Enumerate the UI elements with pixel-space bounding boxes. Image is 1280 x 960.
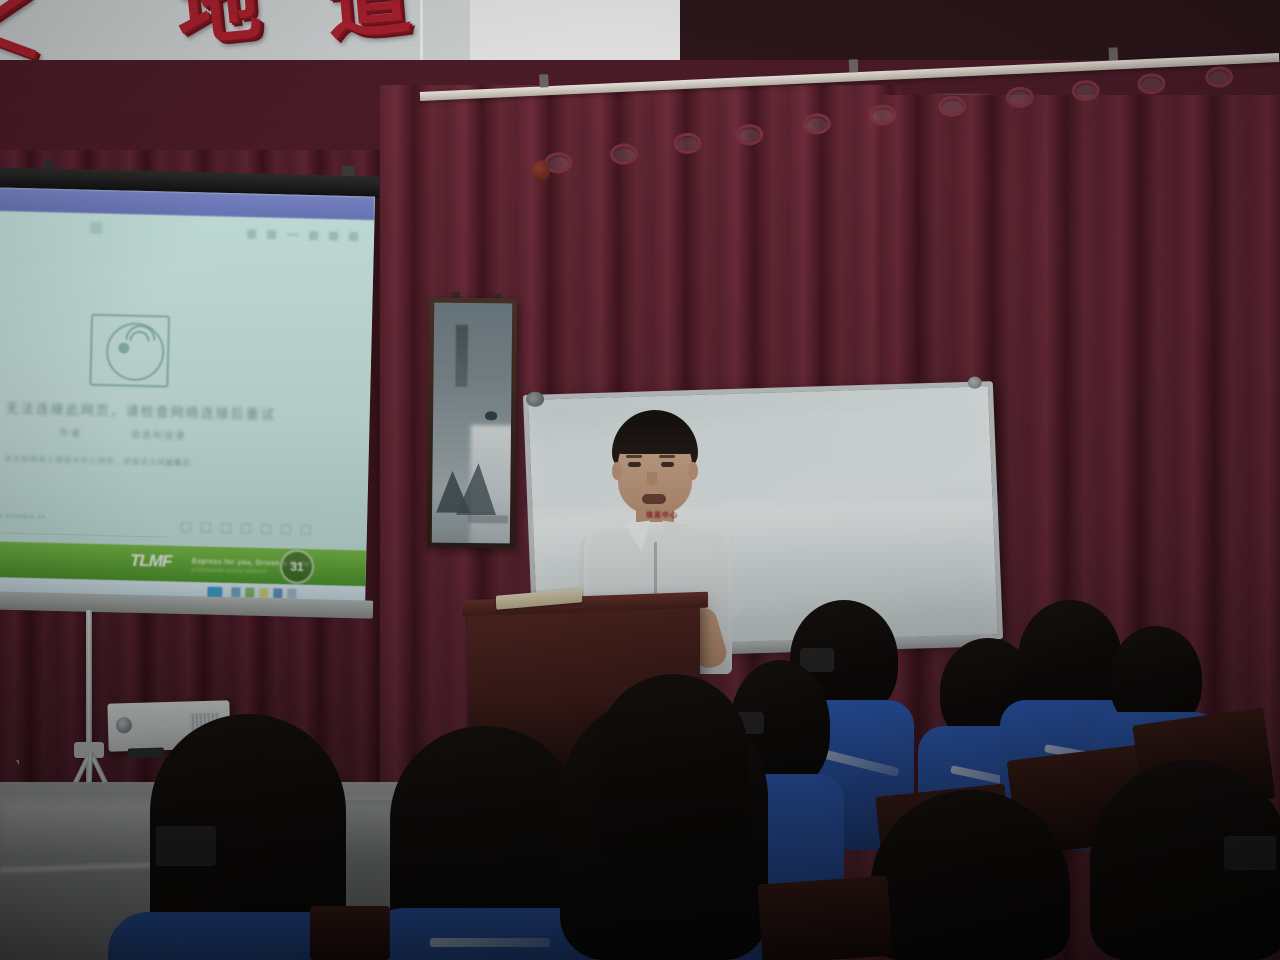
- student-front-2-uniform-stripe: [430, 938, 550, 947]
- student-front-6-glasses: [1224, 836, 1276, 870]
- auditorium-seat: [757, 876, 892, 960]
- student-front-4-hair: [598, 674, 748, 874]
- auditorium-seat: [310, 906, 390, 960]
- classroom-photo-scene: ＜ 地 道: [0, 0, 1280, 960]
- student-front-1-glasses: [156, 826, 216, 866]
- audience: [0, 0, 1280, 960]
